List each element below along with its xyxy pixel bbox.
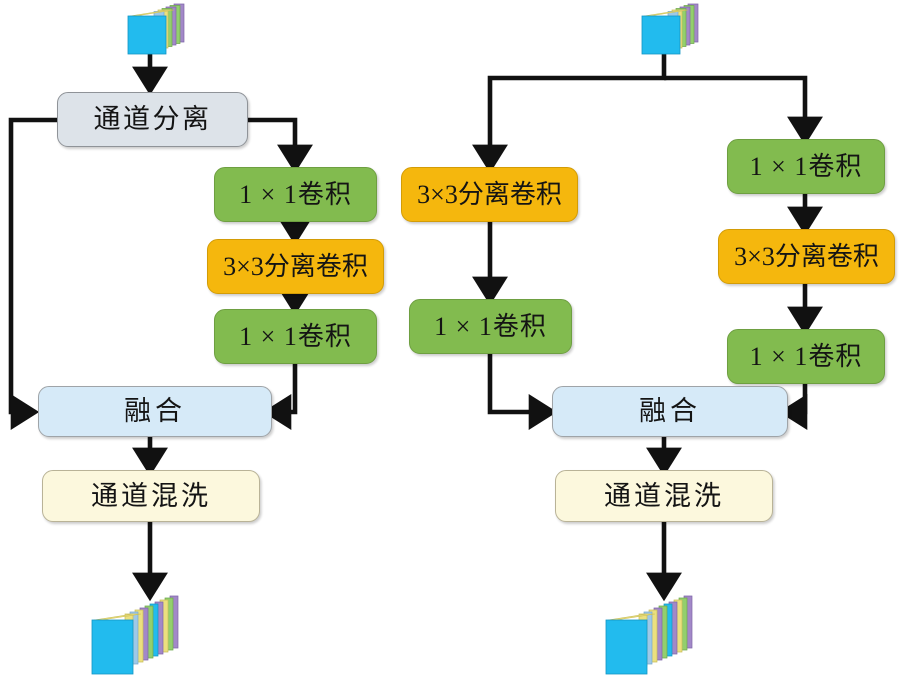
node-left-conv-1x1-b[interactable]: 1 × 1卷积 (214, 309, 377, 364)
wire-input-to-right-branch (664, 78, 805, 136)
node-right-channel-shuffle-label: 通道混洗 (604, 483, 724, 510)
wire-split-skip-to-fusion (11, 120, 57, 412)
node-right-fusion-label: 融合 (639, 398, 701, 425)
node-right-fusion[interactable]: 融合 (552, 386, 788, 437)
node-left-conv-1x1-a[interactable]: 1 × 1卷积 (214, 167, 377, 222)
node-left-channel-shuffle[interactable]: 通道混洗 (42, 470, 260, 522)
output-feature-map-tensor-right (600, 594, 712, 686)
node-right-left-conv-3x3-sep[interactable]: 3×3分离卷积 (401, 167, 578, 222)
wire-rconv1left-to-fusion (490, 350, 548, 412)
node-left-fusion-label: 融合 (124, 398, 186, 425)
wire-conv1b-to-fusion (272, 364, 295, 412)
node-left-conv-3x3-sep-label: 3×3分离卷积 (223, 254, 368, 280)
input-feature-map-tensor-left (118, 2, 190, 58)
node-right-conv-1x1-b[interactable]: 1 × 1卷积 (727, 329, 885, 384)
output-feature-map-tensor-left (86, 594, 198, 686)
node-left-conv-3x3-sep[interactable]: 3×3分离卷积 (207, 239, 384, 294)
node-right-left-conv-3x3-sep-label: 3×3分离卷积 (417, 182, 562, 208)
node-right-conv-1x1-a-label: 1 × 1卷积 (750, 154, 863, 180)
node-right-left-conv-1x1-label: 1 × 1卷积 (434, 314, 547, 340)
wire-rconv1b-to-fusion (788, 384, 805, 412)
node-right-conv-1x1-a[interactable]: 1 × 1卷积 (727, 139, 885, 194)
node-left-conv-1x1-b-label: 1 × 1卷积 (239, 324, 352, 350)
node-left-channel-shuffle-label: 通道混洗 (91, 483, 211, 510)
node-right-conv-1x1-b-label: 1 × 1卷积 (750, 344, 863, 370)
node-right-conv-3x3-sep-label: 3×3分离卷积 (734, 244, 879, 270)
node-right-channel-shuffle[interactable]: 通道混洗 (555, 470, 773, 522)
node-right-conv-3x3-sep[interactable]: 3×3分离卷积 (718, 229, 895, 284)
node-left-conv-1x1-a-label: 1 × 1卷积 (239, 182, 352, 208)
node-left-fusion[interactable]: 融合 (38, 386, 272, 437)
node-channel-split[interactable]: 通道分离 (57, 92, 248, 147)
wire-split-to-conv1a (248, 120, 295, 164)
input-feature-map-tensor-right (632, 2, 704, 58)
node-channel-split-label: 通道分离 (94, 106, 212, 133)
node-right-left-conv-1x1[interactable]: 1 × 1卷积 (409, 299, 572, 354)
diagram-canvas: 通道分离 1 × 1卷积 3×3分离卷积 1 × 1卷积 融合 通道混洗 (0, 0, 905, 688)
wire-input-to-left-branch (490, 52, 664, 164)
